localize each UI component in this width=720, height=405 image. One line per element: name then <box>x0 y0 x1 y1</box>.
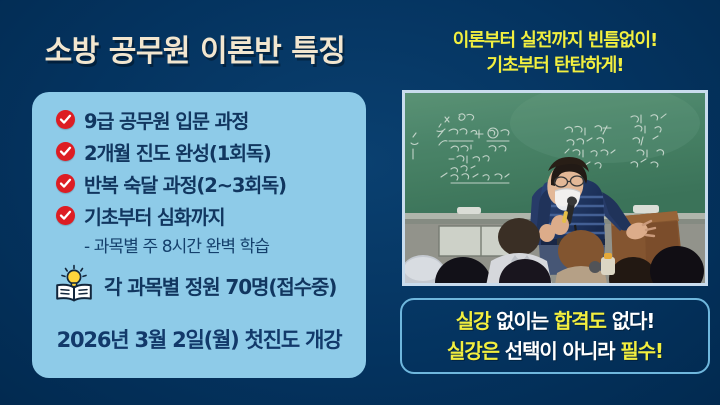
right-column: 이론부터 실전까지 빈틈없이! 기초부터 탄탄하게! <box>390 0 720 405</box>
list-item: 9급 공무원 입문 과정 <box>56 104 356 134</box>
check-circle-icon <box>56 174 75 193</box>
slogan-2-part-3: 필수! <box>620 339 663 363</box>
list-item-label: 9급 공무원 입문 과정 <box>84 105 248 134</box>
list-item-label: 2개월 진도 완성(1회독) <box>84 137 271 166</box>
classroom-photo <box>402 90 708 286</box>
slogan-2-part-1: 실강은 <box>447 339 505 363</box>
capacity-row: 각 과목별 정원 70명(접수중) <box>54 264 354 306</box>
list-item-subtext: - 과목별 주 8시간 완벽 학습 <box>84 232 356 257</box>
slogan-line-1: 실강 없이는 합격도 없다! <box>456 306 655 336</box>
open-book-lightbulb-icon <box>54 264 94 306</box>
slogan-2-part-2: 선택이 아니라 <box>505 339 621 363</box>
slogan-1-part-4: 없다! <box>606 309 654 333</box>
slogan-1-part-2: 없이는 <box>496 309 554 333</box>
bullet-list: 9급 공무원 입문 과정 2개월 진도 완성(1회독) 반복 숙달 과정(2~3… <box>56 104 356 257</box>
start-date-label: 2026년 3월 2일(월) 첫진도 개강 <box>32 324 366 354</box>
sub-headline-line-2: 기초부터 탄탄하게! <box>390 53 720 78</box>
left-column: 소방 공무원 이론반 특징 9급 공무원 입문 과정 2개월 진도 완성(1회독… <box>0 0 390 405</box>
slogan-line-2: 실강은 선택이 아니라 필수! <box>447 336 663 366</box>
check-circle-icon <box>56 142 75 161</box>
list-item: 기초부터 심화까지 <box>56 200 356 230</box>
check-circle-icon <box>56 206 75 225</box>
list-item: 2개월 진도 완성(1회독) <box>56 136 356 166</box>
page-title: 소방 공무원 이론반 특징 <box>0 26 390 70</box>
list-item: 반복 숙달 과정(2~3회독) <box>56 168 356 198</box>
slogan-box: 실강 없이는 합격도 없다! 실강은 선택이 아니라 필수! <box>400 298 710 374</box>
list-item-label: 반복 숙달 과정(2~3회독) <box>84 169 286 198</box>
slogan-1-part-3: 합격도 <box>554 309 606 333</box>
classroom-photo-image <box>405 93 705 283</box>
info-card: 9급 공무원 입문 과정 2개월 진도 완성(1회독) 반복 숙달 과정(2~3… <box>32 92 366 378</box>
check-circle-icon <box>56 110 75 129</box>
promo-poster: 소방 공무원 이론반 특징 9급 공무원 입문 과정 2개월 진도 완성(1회독… <box>0 0 720 405</box>
sub-headline-line-1: 이론부터 실전까지 빈틈없이! <box>390 28 720 53</box>
capacity-label: 각 과목별 정원 70명(접수중) <box>104 271 336 300</box>
sub-headline: 이론부터 실전까지 빈틈없이! 기초부터 탄탄하게! <box>390 28 720 78</box>
list-item-label: 기초부터 심화까지 <box>84 201 224 230</box>
slogan-1-part-1: 실강 <box>456 309 496 333</box>
